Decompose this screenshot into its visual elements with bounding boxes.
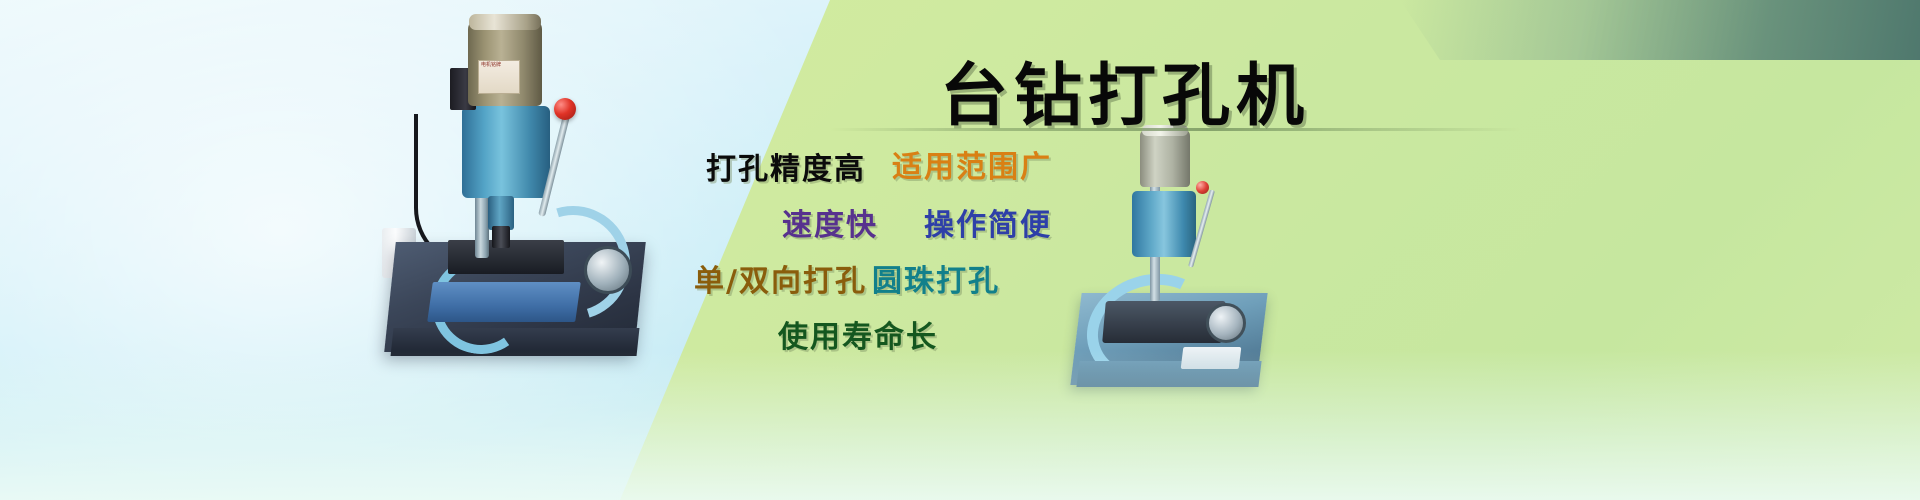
brand-sticker xyxy=(1181,347,1242,369)
motor-nameplate: 电机铭牌 xyxy=(478,60,520,94)
feature-item-speed: 速度快 xyxy=(782,200,878,244)
left-machine-image: 电机铭牌 xyxy=(370,10,660,380)
dark-corner-wedge xyxy=(1400,0,1920,60)
drill-quill xyxy=(488,196,514,230)
feature-item-precision: 打孔精度高 xyxy=(706,144,866,188)
title-divider xyxy=(830,128,1520,131)
feature-list: 打孔精度高 适用范围广 速度快 操作简便 单/双向打孔 圆珠打孔 使用寿命长 xyxy=(660,138,1100,368)
work-table xyxy=(427,282,581,322)
right-machine-image xyxy=(1070,125,1270,410)
drill-chuck xyxy=(492,226,510,248)
lever-knob xyxy=(1196,181,1209,194)
feature-item-range: 适用范围广 xyxy=(892,142,1052,186)
feature-item-bead-drill: 圆珠打孔 xyxy=(872,256,1000,300)
feature-item-easy-use: 操作简便 xyxy=(924,200,1052,244)
motor-vents xyxy=(473,16,537,25)
handwheel xyxy=(584,246,632,294)
feature-item-lifespan: 使用寿命长 xyxy=(778,312,938,356)
banner-title: 台钻打孔机 xyxy=(940,40,1310,139)
feature-item-direction: 单/双向打孔 xyxy=(694,256,867,300)
handwheel xyxy=(1206,303,1246,343)
lever-knob xyxy=(554,98,576,120)
drill-head xyxy=(462,106,550,198)
product-banner: 电机铭牌 台钻打孔机 打孔精度高 适用范围广 速度快 操作简便 单/双向打孔 圆… xyxy=(0,0,1920,500)
drill-head xyxy=(1132,191,1196,257)
